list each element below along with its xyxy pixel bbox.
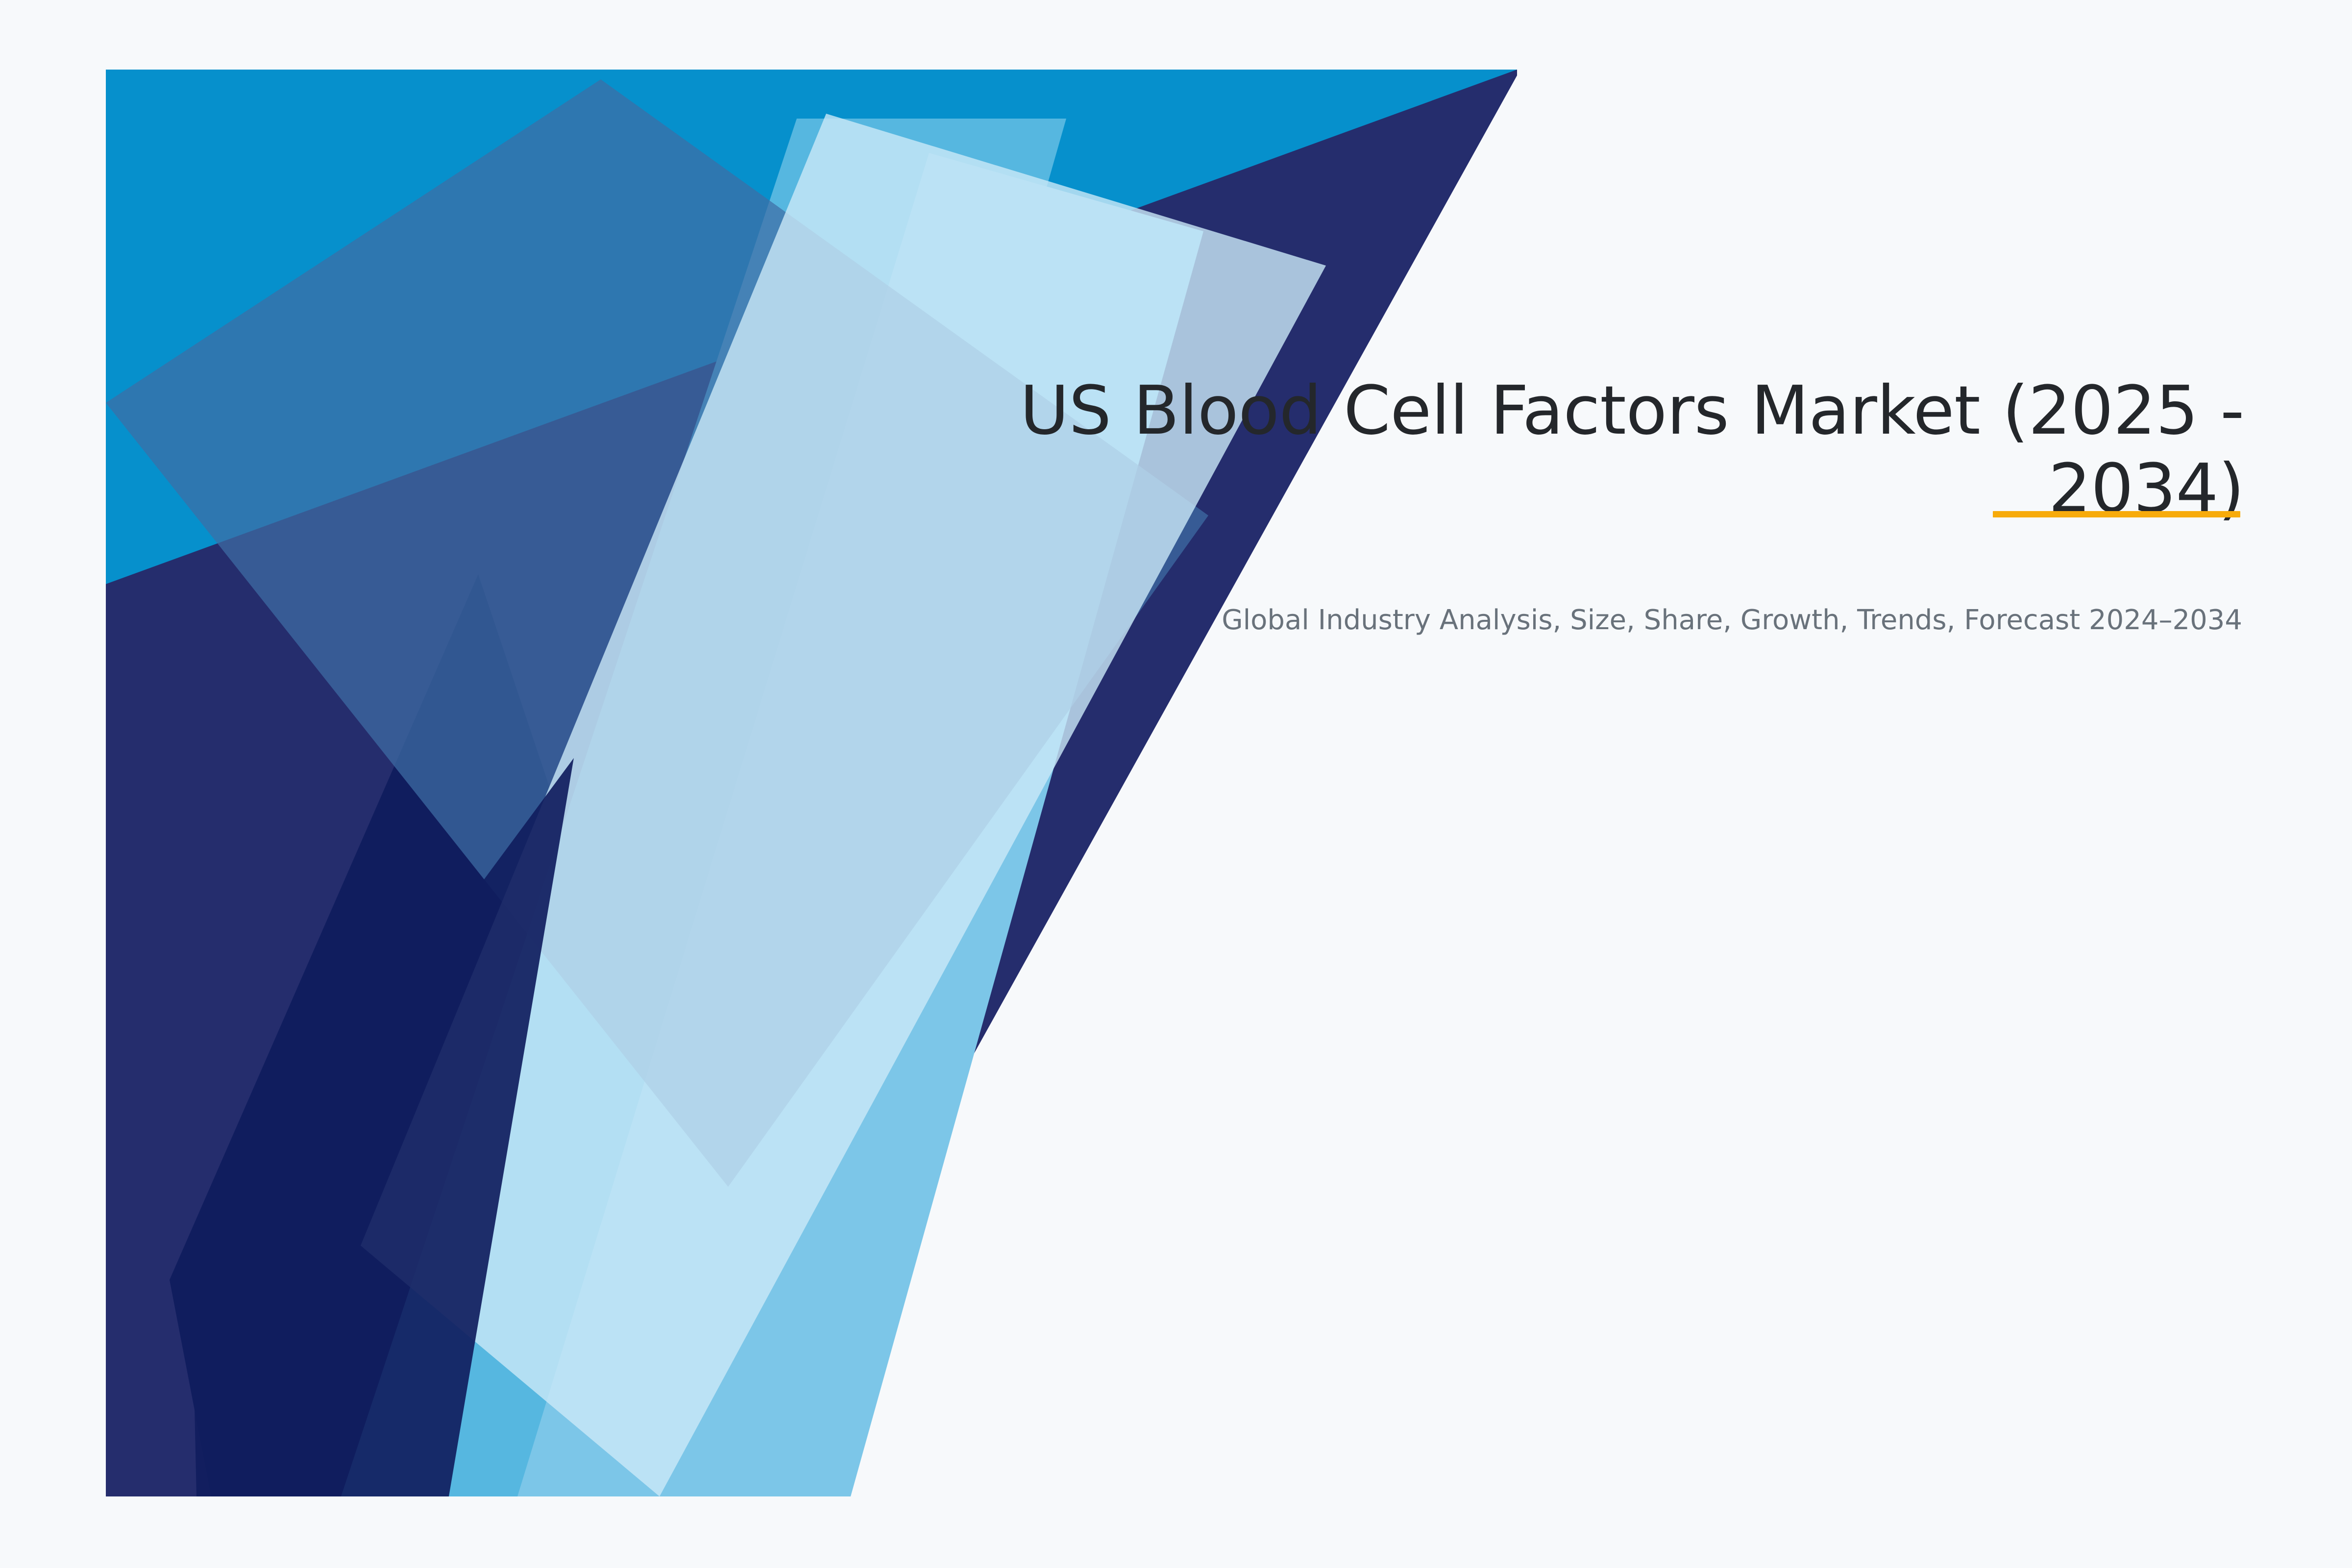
page-title: US Blood Cell Factors Market (2025 - 203…	[833, 372, 2244, 528]
title-underline-accent	[1993, 511, 2240, 517]
page-subtitle: Global Industry Analysis, Size, Share, G…	[833, 602, 2244, 638]
abstract-geometric-artwork	[106, 70, 1517, 1496]
cover-text-block: US Blood Cell Factors Market (2025 - 203…	[833, 372, 2244, 666]
page-title-wrap: US Blood Cell Factors Market (2025 - 203…	[833, 372, 2244, 528]
artwork-svg	[106, 70, 1517, 1496]
cover-slide: US Blood Cell Factors Market (2025 - 203…	[0, 0, 2352, 1568]
